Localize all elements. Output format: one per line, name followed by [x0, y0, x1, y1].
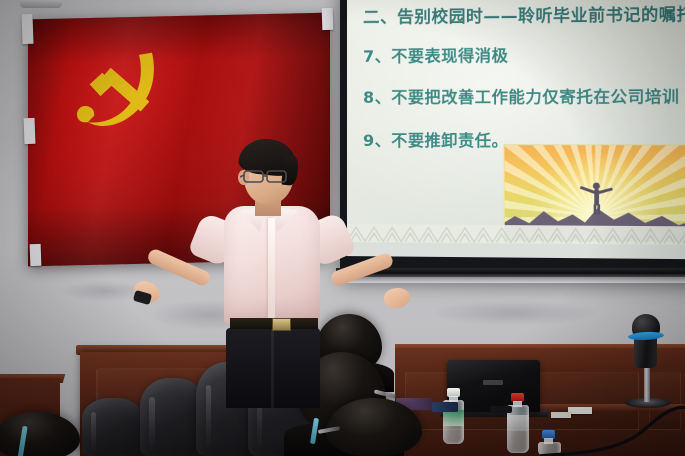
laptop-logo [483, 380, 503, 385]
audience-head [326, 398, 422, 456]
flag-corner-tab [30, 244, 42, 266]
hammer-and-sickle-icon [66, 42, 172, 148]
bottle-label [443, 410, 464, 426]
shirt-placket [268, 218, 275, 318]
desk-clutter [432, 402, 458, 412]
water-bottle-red-cap [507, 393, 529, 453]
hiker-silhouette [574, 180, 620, 215]
water-bottle-white-cap [443, 388, 464, 444]
flag-corner-tab [24, 118, 36, 144]
belt-buckle [272, 318, 291, 331]
slide-item-8-text: 不要把改善工作能力仅寄托在公司培训 [391, 87, 679, 107]
slide-item-7-number: 7、 [363, 47, 391, 66]
audio-cable [540, 402, 685, 456]
slide-item-8: 8、不要把改善工作能力仅寄托在公司培训 [363, 83, 679, 108]
chair-back [82, 398, 144, 456]
bottle-label [507, 415, 529, 431]
desk-cable-connector [490, 406, 512, 413]
flag-corner-tab [21, 14, 33, 44]
slide-heading: 二、告别校园时——聆听毕业前书记的嘱托 [363, 1, 685, 28]
slide-item-8-number: 8、 [363, 88, 391, 107]
slide-item-7: 7、不要表现得消极 [363, 42, 508, 67]
eyeglasses-icon [240, 166, 300, 186]
presenter-figure [120, 142, 420, 362]
lecture-hall-photo: 二、告别校园时——聆听毕业前书记的嘱托 7、不要表现得消极 8、不要把改善工作能… [0, 0, 685, 456]
presenter-trousers [226, 328, 320, 408]
presenter-right-hand [382, 286, 412, 311]
flag-corner-tab [322, 8, 334, 30]
bottle-neck [513, 401, 522, 407]
ceiling-fixture [20, 0, 62, 8]
slide-item-7-text: 不要表现得消极 [391, 46, 508, 66]
